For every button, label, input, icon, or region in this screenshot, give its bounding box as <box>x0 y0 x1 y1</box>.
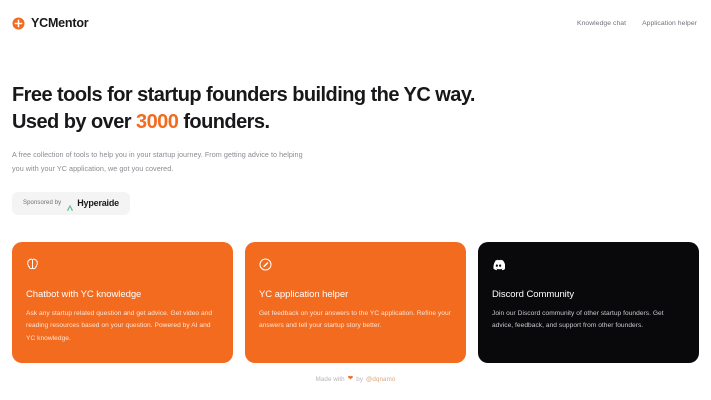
heart-icon: ❤ <box>348 376 354 383</box>
card-chatbot-yc-knowledge[interactable]: Chatbot with YC knowledge Ask any startu… <box>12 242 233 363</box>
discord-icon <box>492 258 505 271</box>
headline-line-2-suffix: founders. <box>178 111 269 133</box>
pencil-circle-icon <box>259 258 272 271</box>
brand-logo[interactable]: YCMentor <box>12 17 88 30</box>
card-description: Get feedback on your answers to the YC a… <box>259 308 452 332</box>
footer-author-handle[interactable]: @dqnamo <box>366 376 395 383</box>
footer-middle: by <box>356 376 363 383</box>
card-title: Discord Community <box>492 289 685 300</box>
page-title: Free tools for startup founders building… <box>12 82 572 135</box>
site-header: YCMentor Knowledge chat Application help… <box>0 0 711 46</box>
headline-accent-count: 3000 <box>136 111 178 133</box>
feature-cards: Chatbot with YC knowledge Ask any startu… <box>0 242 711 363</box>
card-title: Chatbot with YC knowledge <box>26 289 219 300</box>
sponsor-label: Sponsored by <box>23 200 61 206</box>
headline-line-1: Free tools for startup founders building… <box>12 84 475 106</box>
hero-subtitle-line-1: A free collection of tools to help you i… <box>12 150 277 159</box>
card-yc-application-helper[interactable]: YC application helper Get feedback on yo… <box>245 242 466 363</box>
card-description: Join our Discord community of other star… <box>492 308 685 332</box>
brain-icon <box>26 258 39 271</box>
hyperaide-triangle-icon <box>66 199 74 207</box>
brand-name: YCMentor <box>31 17 88 30</box>
footer-prefix: Made with <box>316 376 345 383</box>
yc-badge-icon <box>12 17 25 30</box>
page-root: YCMentor Knowledge chat Application help… <box>0 0 711 400</box>
site-footer: Made with ❤ by @dqnamo <box>0 376 711 383</box>
sponsor-badge[interactable]: Sponsored by Hyperaide <box>12 192 130 215</box>
card-title: YC application helper <box>259 289 452 300</box>
card-description: Ask any startup related question and get… <box>26 308 219 345</box>
nav-link-application-helper[interactable]: Application helper <box>642 20 697 27</box>
header-nav: Knowledge chat Application helper <box>577 20 697 27</box>
hero-subtitle: A free collection of tools to help you i… <box>12 148 312 175</box>
hero-section: Free tools for startup founders building… <box>0 46 711 215</box>
headline-line-2-prefix: Used by over <box>12 111 136 133</box>
sponsor-logo: Hyperaide <box>66 199 119 208</box>
card-discord-community[interactable]: Discord Community Join our Discord commu… <box>478 242 699 363</box>
nav-link-knowledge-chat[interactable]: Knowledge chat <box>577 20 626 27</box>
sponsor-name: Hyperaide <box>77 199 119 208</box>
